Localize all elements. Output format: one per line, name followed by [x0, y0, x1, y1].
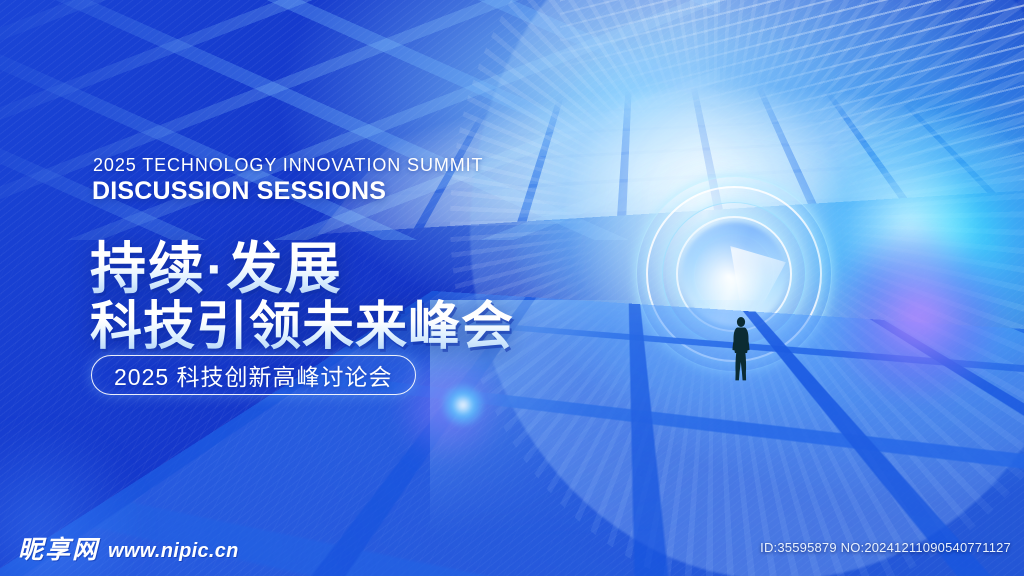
- subheading-text: DISCUSSION SESSIONS: [92, 177, 386, 206]
- image-id-text: ID:35595879 NO:20241211090540771127: [760, 540, 1011, 555]
- watermark-logo-text: 昵享网: [18, 538, 99, 563]
- headline-line-2: 科技引领未来峰会: [90, 284, 514, 359]
- poster-content: 2025 TECHNOLOGY INNOVATION SUMMIT DISCUS…: [0, 0, 1024, 576]
- watermark: 昵享网 www.nipic.cn: [18, 538, 239, 563]
- event-subtitle-pill: 2025 科技创新高峰讨论会: [91, 355, 416, 395]
- eyebrow-text: 2025 TECHNOLOGY INNOVATION SUMMIT: [93, 155, 483, 176]
- watermark-url-text: www.nipic.cn: [108, 541, 239, 561]
- poster-canvas: 2025 TECHNOLOGY INNOVATION SUMMIT DISCUS…: [0, 0, 1024, 576]
